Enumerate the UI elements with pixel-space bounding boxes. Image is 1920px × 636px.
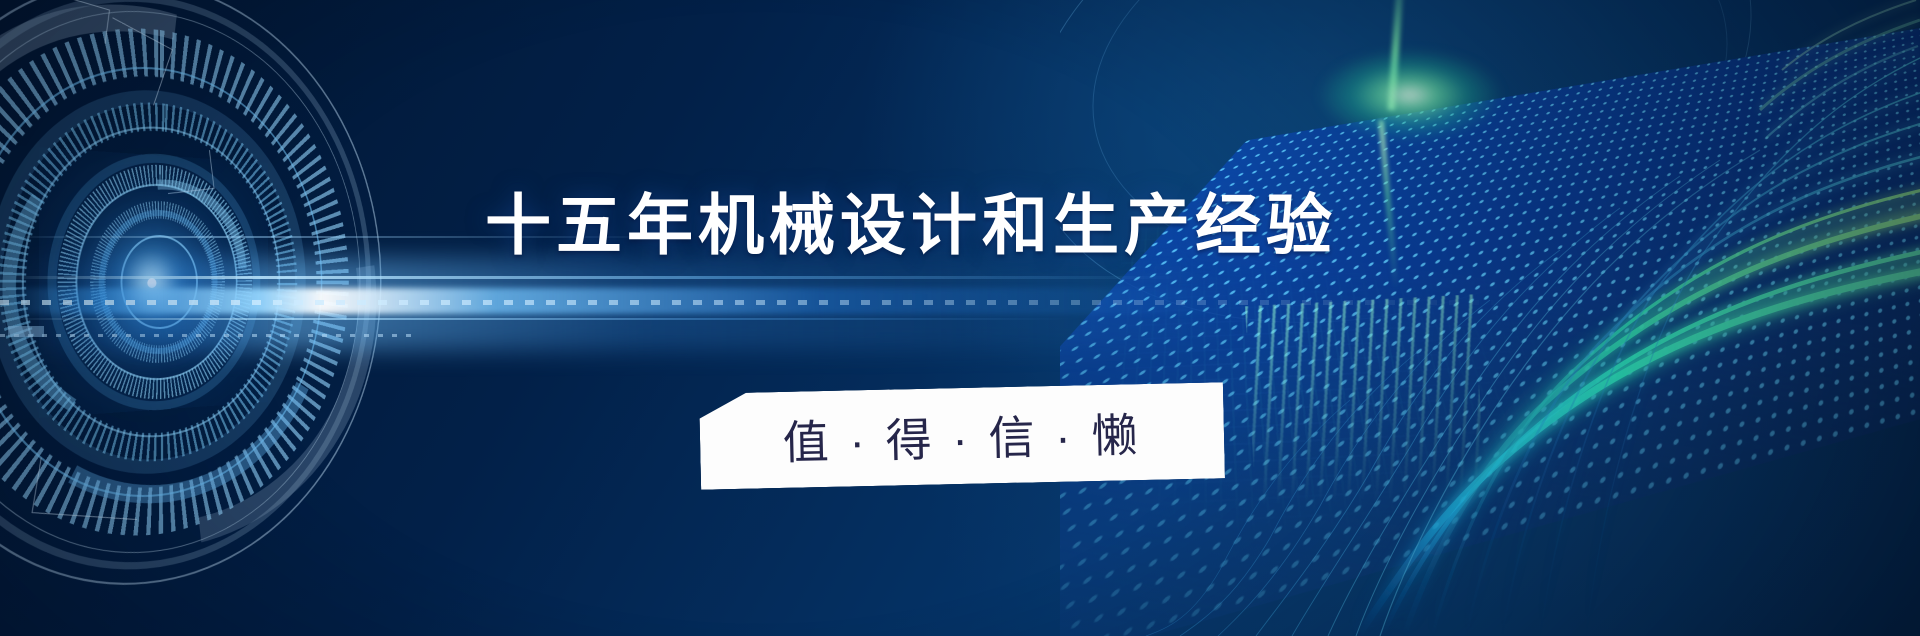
banner-headline: 十五年机械设计和生产经验 [485, 192, 1337, 258]
hero-banner: 十五年机械设计和生产经验 值 · 得 · 信 · 懒 [0, 0, 1920, 636]
banner-tagline: 值 · 得 · 信 · 懒 [699, 382, 1225, 489]
background-vignette [0, 0, 1920, 636]
